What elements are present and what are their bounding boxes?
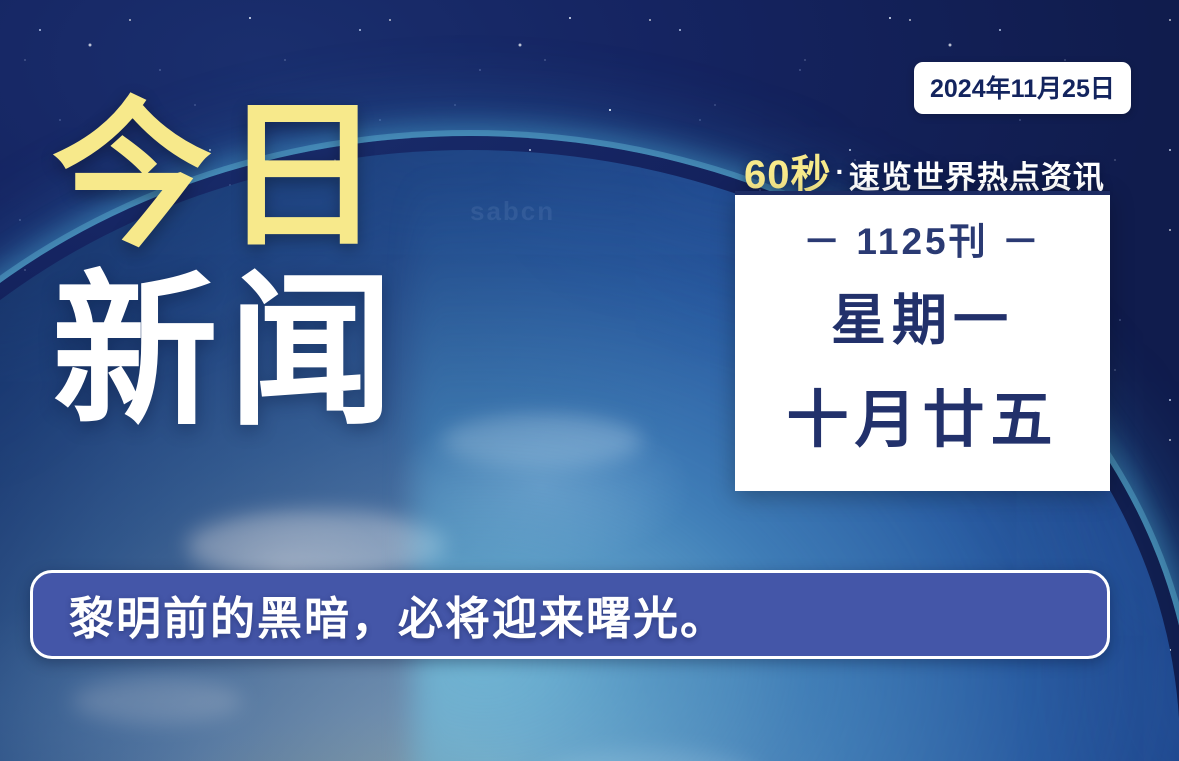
quote-bar: 黎明前的黑暗，必将迎来曙光。 [30, 570, 1110, 659]
date-badge: 2024年11月25日 [914, 62, 1131, 114]
date-info-card: － 1125刊 － 星期一 十月廿五 [735, 191, 1110, 491]
news-poster: 今日 新闻 sabcn 2024年11月25日 60秒·速览世界热点资讯 － 1… [0, 0, 1179, 761]
watermark-text: sabcn [470, 196, 555, 227]
tagline-rest: 速览世界热点资讯 [849, 160, 1105, 195]
issue-number: － 1125刊 － [803, 211, 1042, 265]
tagline-separator: · [832, 156, 849, 187]
title-line-jinri: 今日 [52, 96, 404, 256]
lunar-date-label: 十月廿五 [786, 369, 1058, 459]
weekday-label: 星期一 [831, 275, 1014, 355]
title-line-xinwen: 新闻 [52, 270, 404, 436]
poster-title: 今日 新闻 [52, 96, 404, 436]
quote-text: 黎明前的黑暗，必将迎来曙光。 [69, 582, 727, 647]
